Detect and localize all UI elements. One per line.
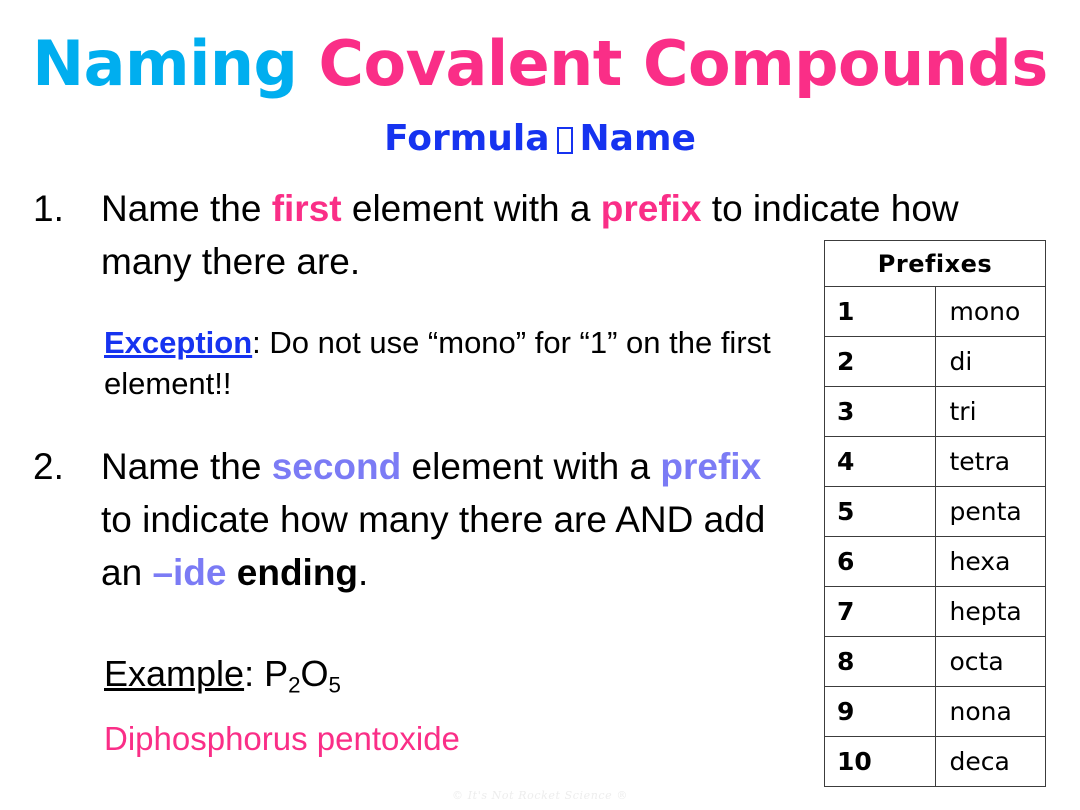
table-row: 10 deca: [825, 737, 1046, 787]
formula-element-o: O: [301, 653, 329, 694]
prefix-name: penta: [935, 487, 1046, 537]
prefix-number: 7: [825, 587, 936, 637]
step-2-emphasis-prefix: prefix: [660, 446, 761, 487]
prefix-number: 6: [825, 537, 936, 587]
prefix-number: 5: [825, 487, 936, 537]
table-row: 2 di: [825, 337, 1046, 387]
example-formula: P2O5: [264, 653, 341, 694]
example-answer: Diphosphorus pentoxide: [104, 718, 460, 760]
step-2-text: Name the second element with a prefix to…: [101, 440, 793, 599]
table-row: 6 hexa: [825, 537, 1046, 587]
slide-title: Naming Covalent Compounds: [0, 26, 1080, 102]
prefixes-table-body: 1 mono 2 di 3 tri 4 tetra 5 penta 6 hexa…: [825, 287, 1046, 787]
step-2-seg-4: .: [358, 552, 368, 593]
table-row: 3 tri: [825, 387, 1046, 437]
exception-note: Exception: Do not use “mono” for “1” on …: [104, 322, 784, 404]
prefix-name: tetra: [935, 437, 1046, 487]
prefix-name: tri: [935, 387, 1046, 437]
formula-subscript-5: 5: [329, 673, 341, 698]
formula-subscript-2: 2: [288, 673, 300, 698]
copyright-watermark: © It's Not Rocket Science ®: [0, 789, 1080, 802]
table-row: 1 mono: [825, 287, 1046, 337]
table-row: 9 nona: [825, 687, 1046, 737]
prefix-number: 9: [825, 687, 936, 737]
step-1-seg-1: Name the: [101, 188, 272, 229]
prefix-name: hexa: [935, 537, 1046, 587]
table-header-row: Prefixes: [825, 241, 1046, 287]
example-colon: :: [244, 653, 264, 694]
prefix-number: 10: [825, 737, 936, 787]
arrow-missing-glyph-icon: [557, 127, 573, 154]
prefix-name: octa: [935, 637, 1046, 687]
title-phrase-covalent-compounds: Covalent Compounds: [318, 27, 1047, 100]
prefix-name: mono: [935, 287, 1046, 337]
step-1-emphasis-prefix: prefix: [601, 188, 702, 229]
prefix-number: 2: [825, 337, 936, 387]
prefix-name: hepta: [935, 587, 1046, 637]
prefix-name: nona: [935, 687, 1046, 737]
step-2-emphasis-ide: –ide: [152, 552, 226, 593]
prefix-name: di: [935, 337, 1046, 387]
step-1-number: 1.: [33, 182, 93, 235]
step-2-number: 2.: [33, 440, 93, 493]
prefix-number: 8: [825, 637, 936, 687]
slide-subtitle: FormulaName: [0, 116, 1080, 162]
title-word-naming: Naming: [32, 27, 297, 100]
table-row: 5 penta: [825, 487, 1046, 537]
prefix-number: 3: [825, 387, 936, 437]
prefixes-table-header: Prefixes: [825, 241, 1046, 287]
table-row: 4 tetra: [825, 437, 1046, 487]
step-1-emphasis-first: first: [272, 188, 342, 229]
prefixes-table: Prefixes 1 mono 2 di 3 tri 4 tetra 5 pen…: [824, 240, 1046, 787]
example-label: Example: [104, 653, 244, 694]
prefix-name: deca: [935, 737, 1046, 787]
table-row: 7 hepta: [825, 587, 1046, 637]
prefix-number: 1: [825, 287, 936, 337]
step-2-emphasis-ending: ending: [237, 552, 358, 593]
list-item-step-2: 2. Name the second element with a prefix…: [33, 440, 793, 599]
step-2-emphasis-second: second: [272, 446, 402, 487]
step-2-seg-2: element with a: [401, 446, 660, 487]
exception-label: Exception: [104, 325, 252, 360]
subtitle-right-term: Name: [580, 118, 696, 159]
formula-element-p: P: [264, 653, 288, 694]
prefix-number: 4: [825, 437, 936, 487]
subtitle-left-term: Formula: [384, 118, 549, 159]
step-2-seg-1: Name the: [101, 446, 272, 487]
step-1-seg-2: element with a: [342, 188, 601, 229]
example-block: Example: P2O5: [104, 652, 341, 708]
table-row: 8 octa: [825, 637, 1046, 687]
